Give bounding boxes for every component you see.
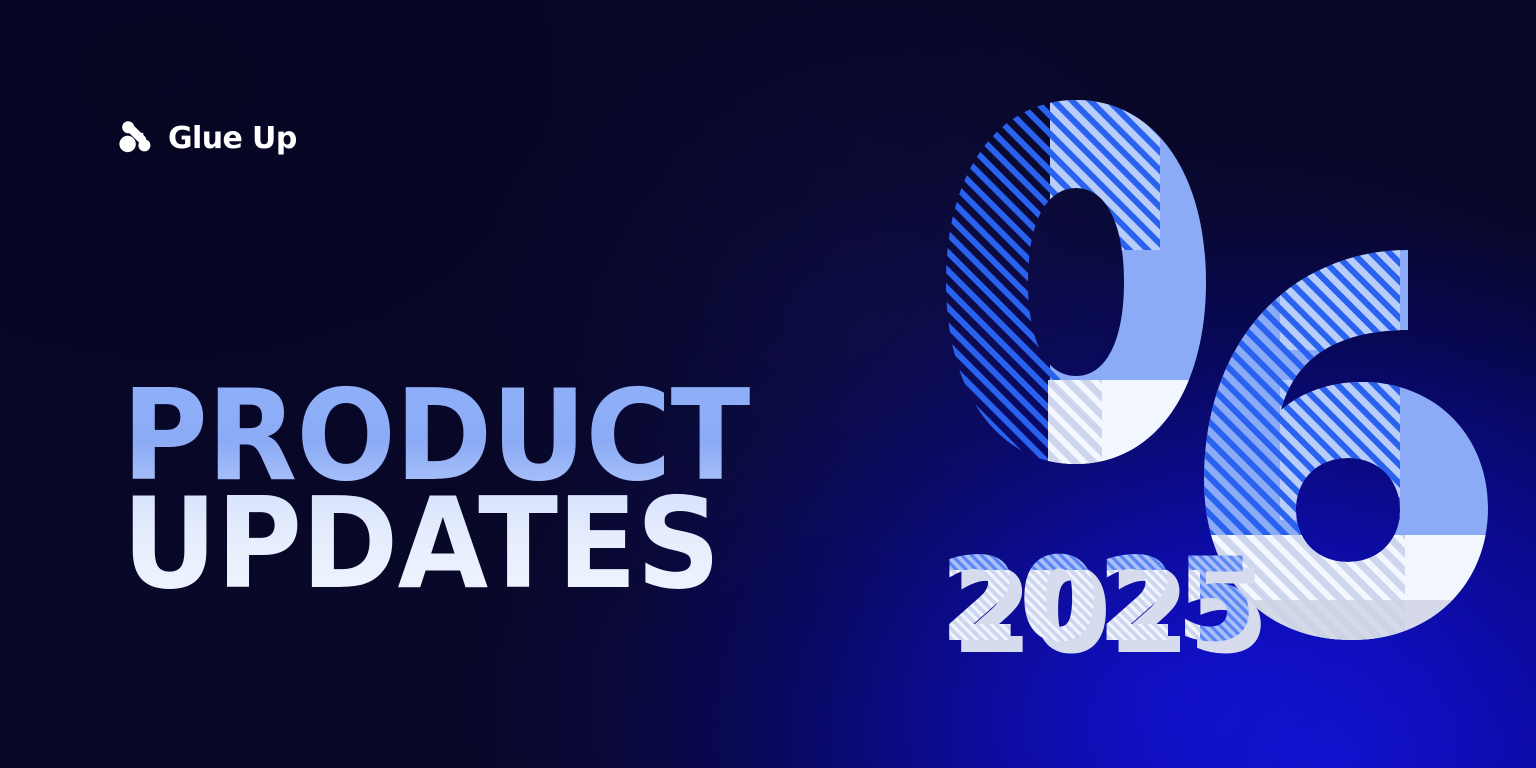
glueup-molecule-icon xyxy=(118,119,158,159)
page-title-line-2: UPDATES xyxy=(122,490,750,598)
page-title: PRODUCT UPDATES xyxy=(122,382,797,599)
brand-logo[interactable]: Glue Up xyxy=(118,119,297,159)
poster-canvas: 2025 2025 xyxy=(0,0,1536,768)
brand-name: Glue Up xyxy=(168,124,297,154)
month-year-artwork: 2025 2025 xyxy=(900,80,1500,700)
